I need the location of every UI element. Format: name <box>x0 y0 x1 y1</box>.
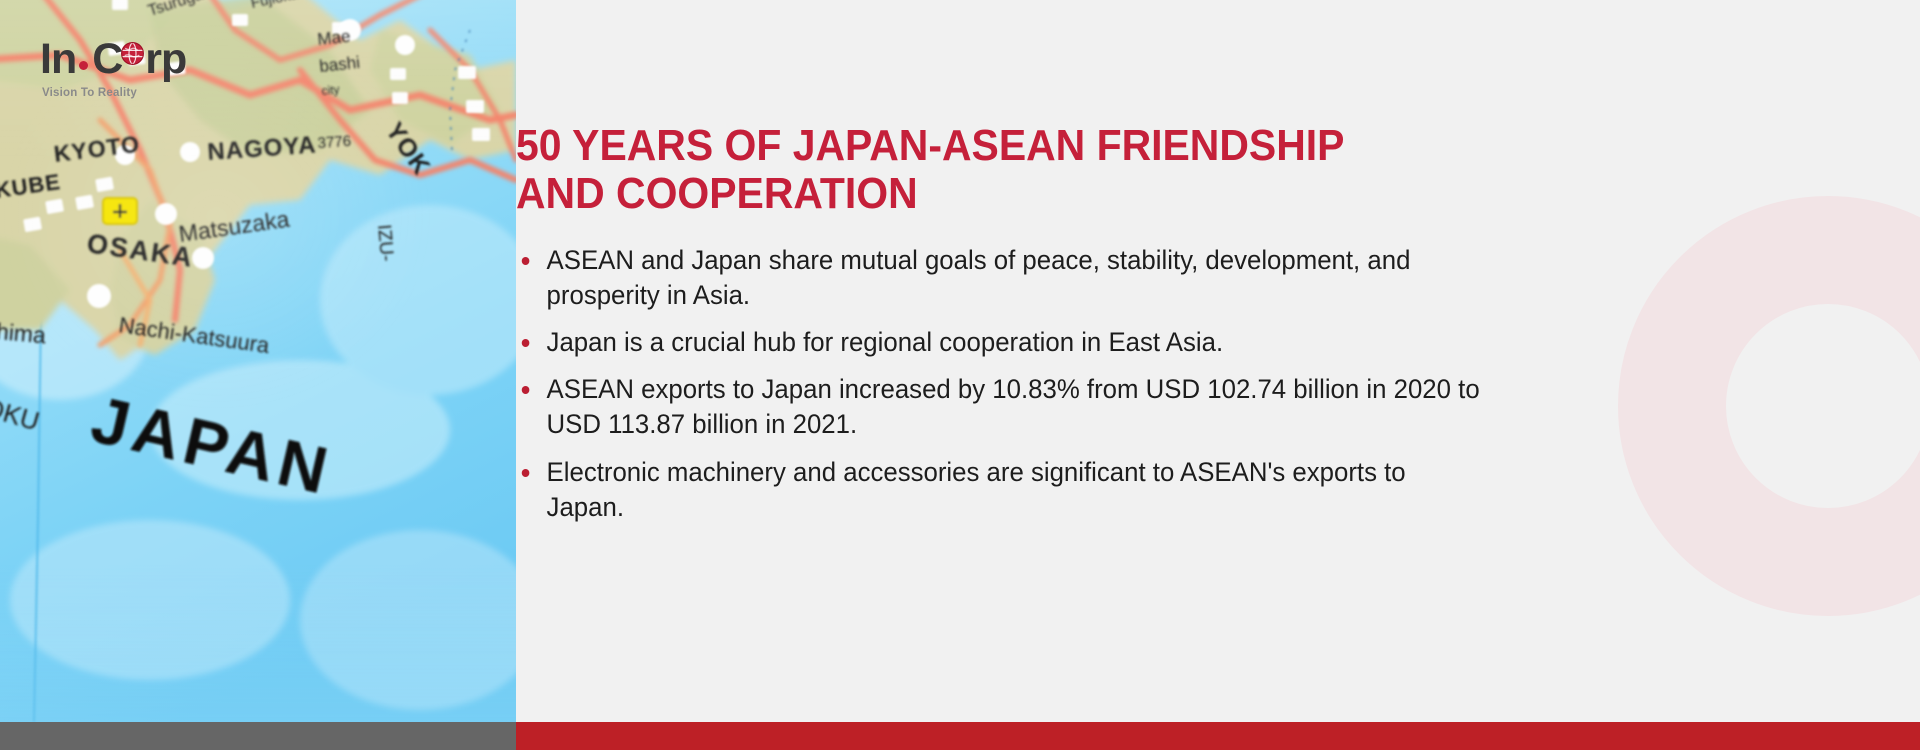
bullet-list: ASEAN and Japan share mutual goals of pe… <box>516 243 1526 525</box>
bullet-dot-icon <box>522 257 530 265</box>
map-panel: KYOTO NAGOYA KUBE OSAKA Matsuzaka Nachi-… <box>0 0 516 722</box>
list-item-text: ASEAN exports to Japan increased by 10.8… <box>547 374 1480 439</box>
content-inner: 50 YEARS OF JAPAN-ASEAN FRIENDSHIP AND C… <box>516 0 1920 525</box>
logo-wordmark: In C rp <box>40 38 186 81</box>
list-item: ASEAN exports to Japan increased by 10.8… <box>516 372 1481 442</box>
logo-text-in: In <box>40 38 76 81</box>
slide-root: KYOTO NAGOYA KUBE OSAKA Matsuzaka Nachi-… <box>0 0 1920 750</box>
list-item-text: ASEAN and Japan share mutual goals of pe… <box>547 245 1411 310</box>
svg-text:Mae: Mae <box>316 27 351 49</box>
svg-text:city: city <box>321 82 340 98</box>
logo-text-rp: rp <box>145 38 186 81</box>
svg-text:shima: shima <box>0 317 47 348</box>
list-item: Electronic machinery and accessories are… <box>516 455 1481 525</box>
footer-bar-right <box>516 722 1920 750</box>
svg-text:IZU-: IZU- <box>373 224 397 263</box>
bullet-dot-icon <box>522 469 530 477</box>
bullet-dot-icon <box>522 386 530 394</box>
incorp-logo[interactable]: In C rp Vision To Reality <box>40 38 186 99</box>
logo-red-dot-icon <box>79 61 88 70</box>
globe-icon <box>120 41 145 66</box>
page-title: 50 YEARS OF JAPAN-ASEAN FRIENDSHIP AND C… <box>516 122 1827 217</box>
bullet-dot-icon <box>522 339 530 347</box>
content-panel: 50 YEARS OF JAPAN-ASEAN FRIENDSHIP AND C… <box>516 0 1920 722</box>
logo-text-c: C <box>92 38 122 81</box>
list-item-text: Electronic machinery and accessories are… <box>547 457 1406 522</box>
list-item: Japan is a crucial hub for regional coop… <box>516 325 1481 360</box>
list-item: ASEAN and Japan share mutual goals of pe… <box>516 243 1481 313</box>
svg-text:3776: 3776 <box>317 133 351 152</box>
japan-map-graphic: KYOTO NAGOYA KUBE OSAKA Matsuzaka Nachi-… <box>0 0 516 722</box>
logo-tagline: Vision To Reality <box>42 87 186 99</box>
footer-bar-left <box>0 722 516 750</box>
list-item-text: Japan is a crucial hub for regional coop… <box>547 327 1224 357</box>
